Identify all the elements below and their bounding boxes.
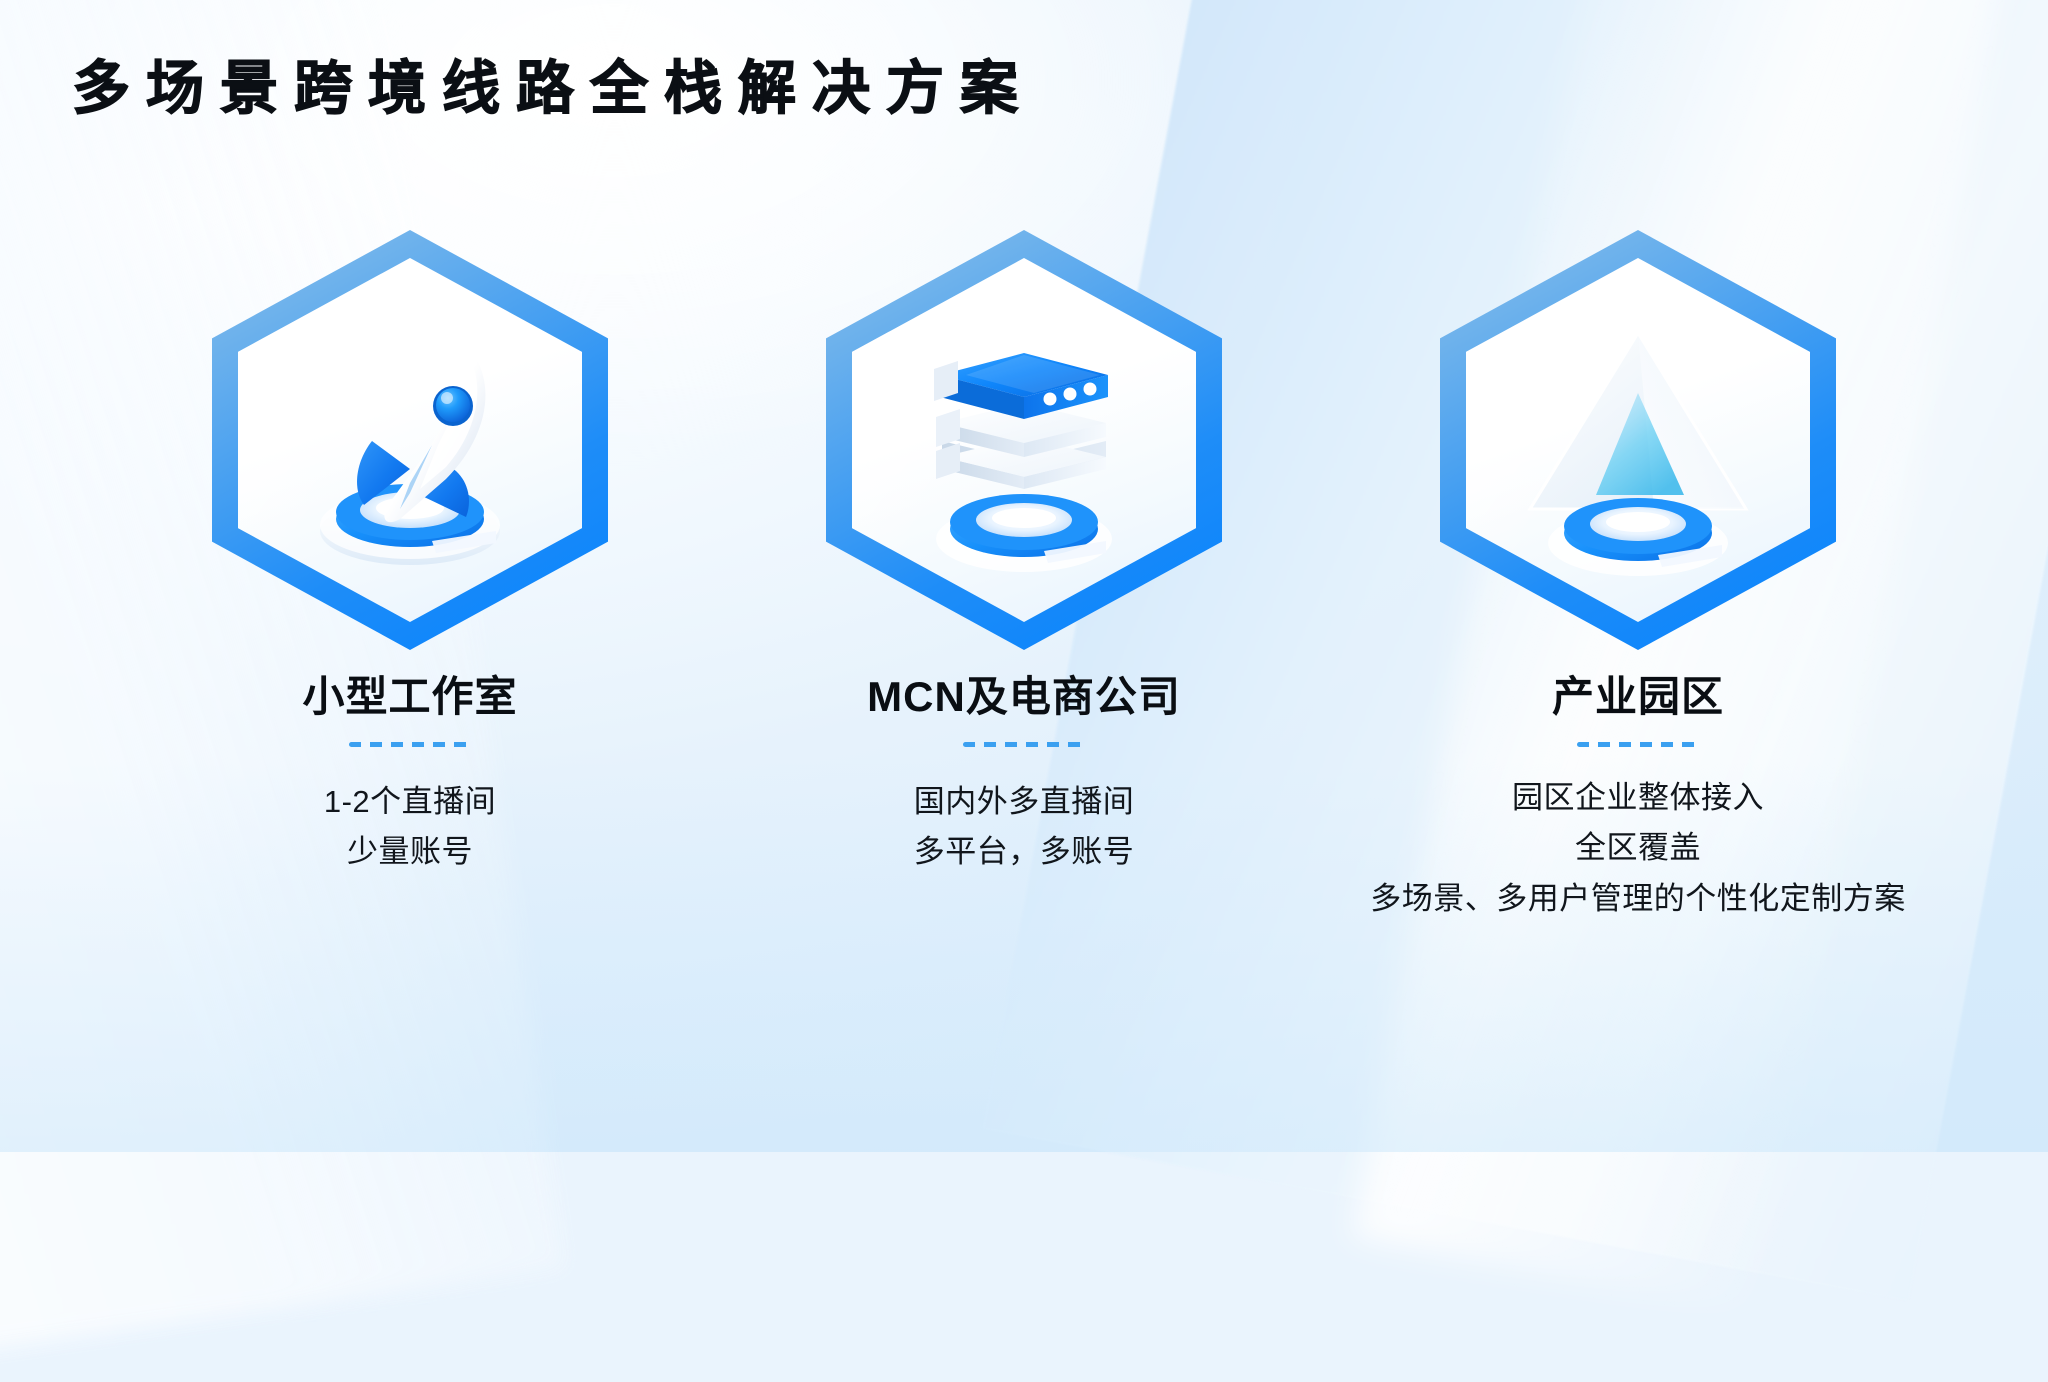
dashed-divider xyxy=(963,742,1085,747)
card-line: 全区覆盖 xyxy=(1370,823,1906,873)
hexagon-badge xyxy=(1440,230,1836,650)
card-description: 1-2个直播间 少量账号 xyxy=(324,777,496,877)
card-line: 少量账号 xyxy=(324,827,496,877)
hexagon-badge xyxy=(212,230,608,650)
scenario-card: 小型工作室 1-2个直播间 少量账号 xyxy=(150,230,670,924)
dashed-divider xyxy=(1577,742,1699,747)
card-description: 园区企业整体接入 全区覆盖 多场景、多用户管理的个性化定制方案 xyxy=(1370,773,1906,924)
page-title: 多场景跨境线路全栈解决方案 xyxy=(72,60,1034,118)
card-line: 多场景、多用户管理的个性化定制方案 xyxy=(1370,874,1906,924)
card-line: 园区企业整体接入 xyxy=(1370,773,1906,823)
scenario-card: MCN及电商公司 国内外多直播间 多平台，多账号 xyxy=(764,230,1284,924)
dashed-divider xyxy=(349,742,471,747)
card-line: 1-2个直播间 xyxy=(324,777,496,827)
card-line: 国内外多直播间 xyxy=(914,777,1135,827)
card-title: 小型工作室 xyxy=(302,674,517,720)
server-stack-icon xyxy=(874,293,1174,593)
card-title: 产业园区 xyxy=(1552,674,1724,720)
scenario-card: 产业园区 园区企业整体接入 全区覆盖 多场景、多用户管理的个性化定制方案 xyxy=(1378,230,1898,924)
hexagon-badge xyxy=(826,230,1222,650)
card-title: MCN及电商公司 xyxy=(867,674,1181,720)
rocket-icon xyxy=(260,293,560,593)
card-line: 多平台，多账号 xyxy=(914,827,1135,877)
pyramid-icon xyxy=(1488,293,1788,593)
card-description: 国内外多直播间 多平台，多账号 xyxy=(914,777,1135,877)
scenario-card-list: 小型工作室 1-2个直播间 少量账号 xyxy=(0,230,2048,924)
